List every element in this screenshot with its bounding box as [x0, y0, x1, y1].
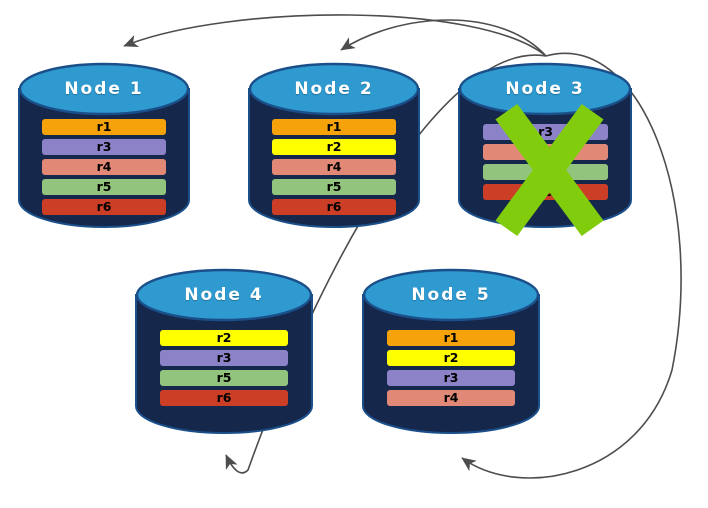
node-2-replica-r4[interactable]: r4	[272, 159, 396, 175]
node-4-label: Node 4	[135, 285, 313, 305]
arrow-node3-to-node1	[124, 15, 546, 56]
node-3[interactable]: Node 3r3r4r5r6	[458, 62, 632, 227]
node-1-replica-r6[interactable]: r6	[42, 199, 166, 215]
node-1-replica-r5[interactable]: r5	[42, 179, 166, 195]
node-1[interactable]: Node 1r1r3r4r5r6	[18, 62, 190, 227]
node-4-replica-r6[interactable]: r6	[160, 390, 288, 406]
node-4[interactable]: Node 4r2r3r5r6	[135, 268, 313, 433]
node-4-replica-r3[interactable]: r3	[160, 350, 288, 366]
node-2-replica-r6[interactable]: r6	[272, 199, 396, 215]
node-2-label: Node 2	[248, 79, 420, 99]
node-2-replica-r5[interactable]: r5	[272, 179, 396, 195]
node-5-replica-r2[interactable]: r2	[387, 350, 515, 366]
node-5-replica-r3[interactable]: r3	[387, 370, 515, 386]
node-5-replica-r1[interactable]: r1	[387, 330, 515, 346]
node-1-replica-r3[interactable]: r3	[42, 139, 166, 155]
node-2-replica-r1[interactable]: r1	[272, 119, 396, 135]
arrow-node3-to-node2	[341, 20, 546, 56]
node-1-replica-r1[interactable]: r1	[42, 119, 166, 135]
node-5[interactable]: Node 5r1r2r3r4	[362, 268, 540, 433]
node-2-replica-r2[interactable]: r2	[272, 139, 396, 155]
failure-x-icon	[492, 104, 607, 236]
node-1-label: Node 1	[18, 79, 190, 99]
node-5-label: Node 5	[362, 285, 540, 305]
node-4-replica-r2[interactable]: r2	[160, 330, 288, 346]
node-1-replica-r4[interactable]: r4	[42, 159, 166, 175]
diagram-canvas: Node 1r1r3r4r5r6Node 2r1r2r4r5r6Node 3r3…	[0, 0, 708, 508]
node-2[interactable]: Node 2r1r2r4r5r6	[248, 62, 420, 227]
node-3-label: Node 3	[458, 79, 632, 99]
node-5-replica-r4[interactable]: r4	[387, 390, 515, 406]
node-4-replica-r5[interactable]: r5	[160, 370, 288, 386]
